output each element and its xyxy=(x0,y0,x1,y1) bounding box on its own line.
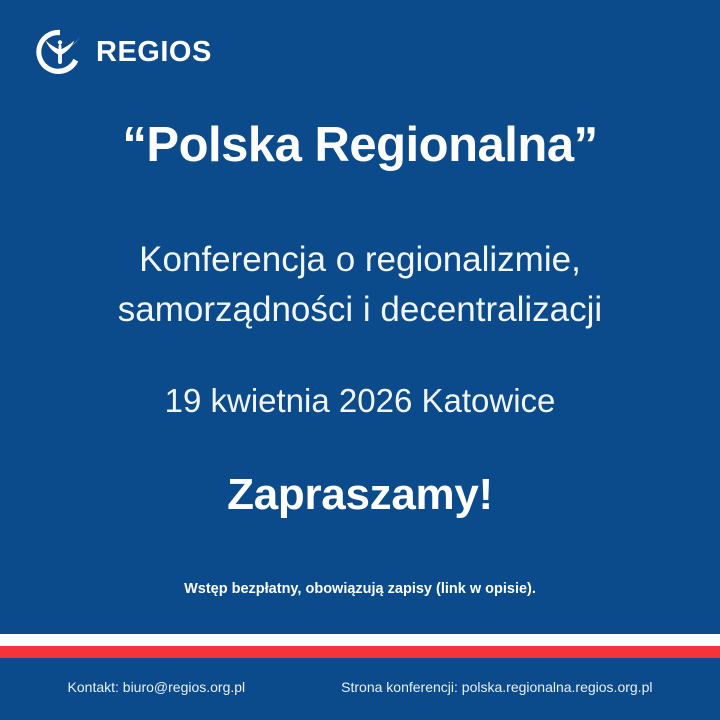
footer-contact: Kontakt: biuro@regios.org.pl xyxy=(68,679,246,696)
bird-in-circle-icon xyxy=(36,28,84,76)
poster-title: “Polska Regionalna” xyxy=(24,118,696,173)
poster-subtitle-line-2: samorządności i decentralizacji xyxy=(24,285,696,335)
poster-date-location: 19 kwietnia 2026 Katowice xyxy=(24,334,696,421)
footer-website: Strona konferencji: polska.regionalna.re… xyxy=(341,679,652,696)
poster-canvas: REGIOS “Polska Regionalna” Konferencja o… xyxy=(0,0,720,720)
flag-stripe-white xyxy=(0,634,720,646)
poster-footer: Kontakt: biuro@regios.org.pl Strona konf… xyxy=(0,658,720,720)
poster-note: Wstęp bezpłatny, obowiązują zapisy (link… xyxy=(24,522,696,599)
brand-wordmark: REGIOS xyxy=(96,38,212,67)
poster-content: “Polska Regionalna” Konferencja o region… xyxy=(0,118,720,598)
poster-subtitle: Konferencja o regionalizmie, samorządnoś… xyxy=(24,173,696,334)
brand-logo: REGIOS xyxy=(36,28,212,76)
poster-cta: Zapraszamy! xyxy=(24,421,696,522)
flag-stripe-red xyxy=(0,646,720,658)
poster-subtitle-line-1: Konferencja o regionalizmie, xyxy=(24,235,696,285)
polish-flag-band xyxy=(0,634,720,658)
